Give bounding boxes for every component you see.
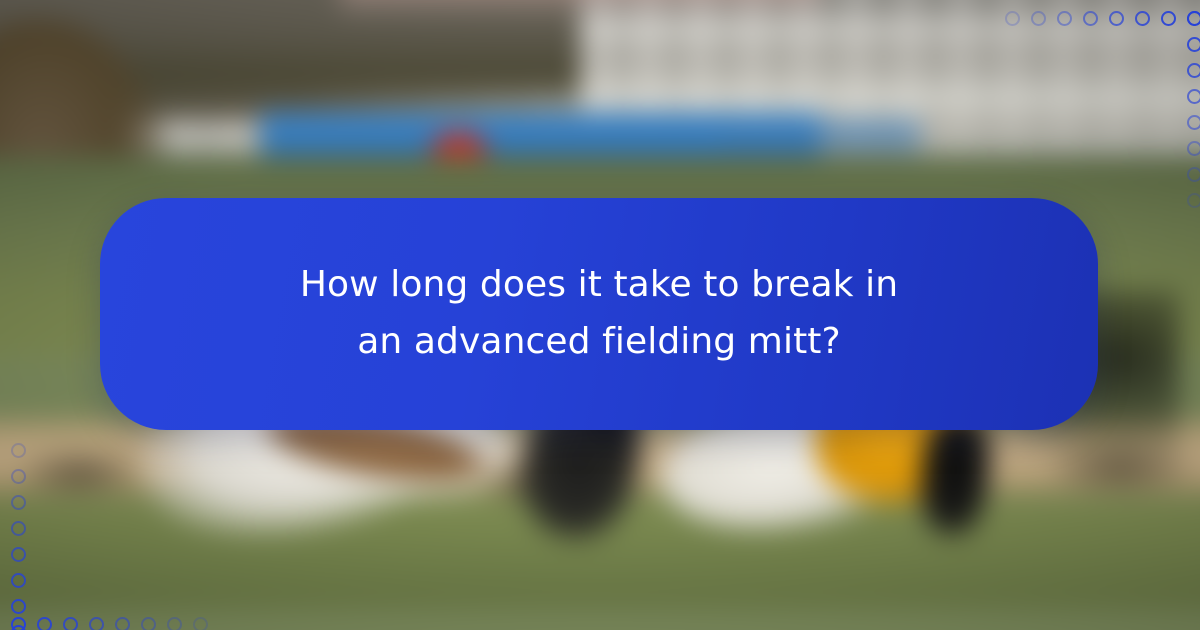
decor-dot (11, 521, 26, 536)
decor-dot (11, 573, 26, 588)
decor-dot (1187, 193, 1200, 208)
decor-dot (11, 469, 26, 484)
decor-dot (141, 617, 156, 630)
decor-dot (115, 617, 130, 630)
decor-dot (11, 443, 26, 458)
decor-dot (89, 617, 104, 630)
question-title: How long does it take to break in an adv… (279, 257, 919, 371)
decor-dot (1109, 11, 1124, 26)
decor-dot (11, 617, 26, 630)
decor-dot (11, 495, 26, 510)
decor-dot (11, 599, 26, 614)
decor-dot (37, 617, 52, 630)
decor-dot (1187, 167, 1200, 182)
decor-dot (193, 617, 208, 630)
decor-dot (1187, 63, 1200, 78)
question-card: How long does it take to break in an adv… (100, 198, 1098, 430)
decor-dot (1031, 11, 1046, 26)
decor-dot (1135, 11, 1150, 26)
decor-dot (1005, 11, 1020, 26)
decor-dot (1187, 115, 1200, 130)
decor-dot (11, 547, 26, 562)
decor-dot (167, 617, 182, 630)
decor-dot (1187, 37, 1200, 52)
decor-dot (1187, 141, 1200, 156)
decor-dot (1161, 11, 1176, 26)
decor-dot (1057, 11, 1072, 26)
decor-dot (1187, 89, 1200, 104)
decor-dot (63, 617, 78, 630)
share-card-canvas: How long does it take to break in an adv… (0, 0, 1200, 630)
decor-dot (1083, 11, 1098, 26)
decor-dot (1187, 11, 1200, 26)
